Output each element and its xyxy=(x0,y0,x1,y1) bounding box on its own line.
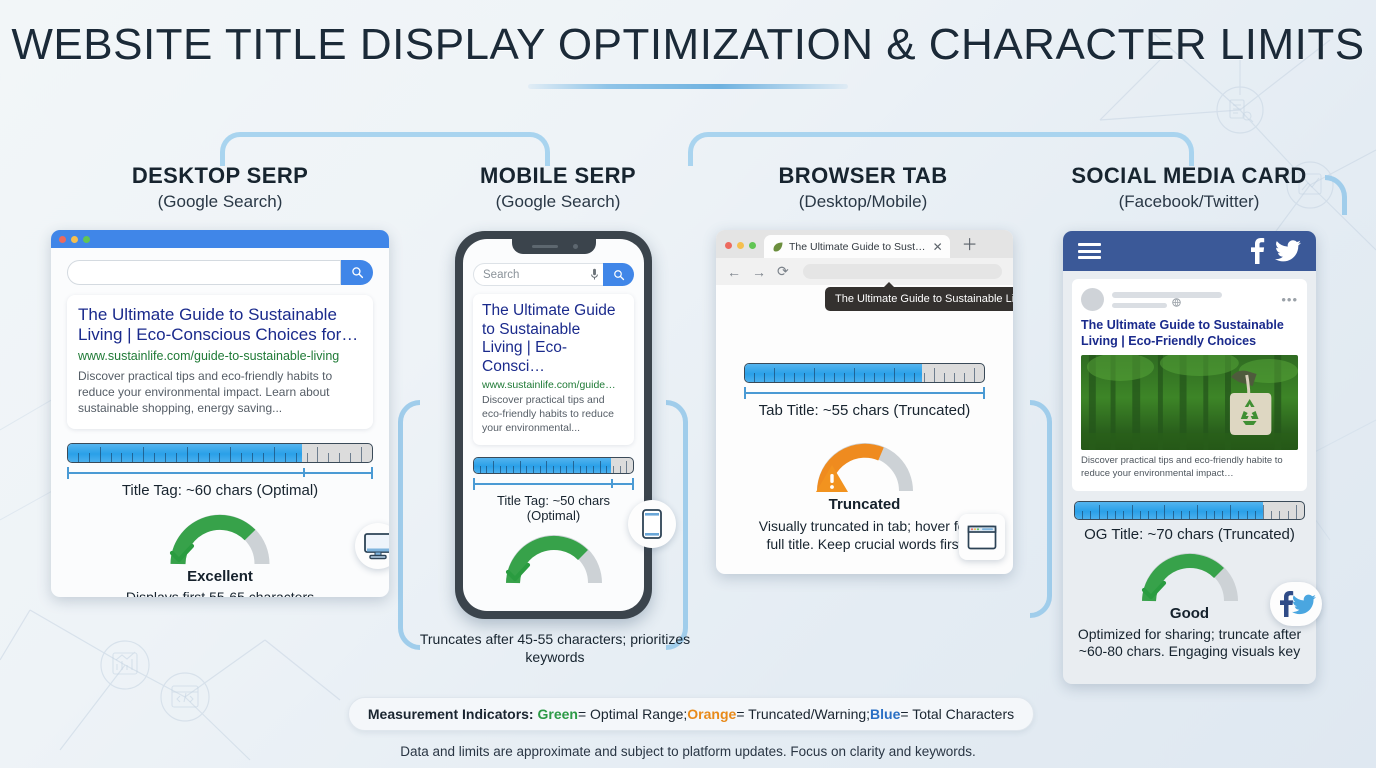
search-button[interactable] xyxy=(341,260,373,285)
ruler-ticks xyxy=(68,444,372,462)
legend-prefix: Measurement Indicators: xyxy=(368,706,534,722)
more-options-icon[interactable]: ••• xyxy=(1281,292,1298,307)
column-heading-desktop: DESKTOP SERP (Google Search) xyxy=(80,163,360,212)
browser-verdict-line1: Visually truncated in tab; hover for xyxy=(759,518,970,534)
desktop-measure-group: Title Tag: ~60 chars (Optimal) xyxy=(67,443,373,499)
result-description: Discover practical tips and eco-friendly… xyxy=(482,394,625,436)
measure-label: Title Tag: ~60 chars (Optimal) xyxy=(67,482,373,499)
header: WEBSITE TITLE DISPLAY OPTIMIZATION & CHA… xyxy=(0,20,1376,89)
window-maximize-dot[interactable] xyxy=(749,242,756,249)
social-verdict-line2: ~60-80 chars. Engaging visuals key xyxy=(1079,643,1300,659)
social-verdict-line1: Optimized for sharing; truncate after xyxy=(1078,626,1301,642)
browser-tab[interactable]: The Ultimate Guide to Sust… ✕ xyxy=(764,235,950,258)
legend-orange-desc: = Truncated/Warning; xyxy=(736,706,870,722)
og-title[interactable]: The Ultimate Guide to Sustainable Living… xyxy=(1081,318,1298,349)
measure-label: OG Title: ~70 chars (Truncated) xyxy=(1074,526,1305,543)
legend-bar: Measurement Indicators: Green = Optimal … xyxy=(348,697,1034,731)
measure-label: Title Tag: ~50 chars (Optimal) xyxy=(473,493,634,523)
avatar xyxy=(1081,288,1104,311)
column-heading-mobile: MOBILE SERP (Google Search) xyxy=(418,163,698,212)
caliper xyxy=(67,467,373,479)
mobile-serp-panel: Search The Ultimate Guide to Sustainable… xyxy=(455,231,652,619)
caliper xyxy=(473,478,634,490)
desktop-device-badge xyxy=(355,523,389,569)
ruler-ticks xyxy=(1075,502,1304,519)
window-minimize-dot[interactable] xyxy=(71,236,78,243)
character-ruler xyxy=(1074,501,1305,520)
window-close-dot[interactable] xyxy=(725,242,732,249)
check-icon xyxy=(504,561,604,583)
arrow-left-icon[interactable]: ← xyxy=(727,264,741,280)
facebook-icon[interactable] xyxy=(1248,238,1265,264)
check-icon xyxy=(168,542,272,564)
footnote: Data and limits are approximate and subj… xyxy=(0,744,1376,759)
leaf-icon xyxy=(772,241,784,253)
phone-notch xyxy=(512,239,596,254)
post-header: ••• xyxy=(1081,288,1298,311)
social-verdict-sub: Optimized for sharing; truncate after ~6… xyxy=(1063,626,1316,661)
window-close-dot[interactable] xyxy=(59,236,66,243)
social-post: ••• The Ultimate Guide to Sustainable Li… xyxy=(1072,279,1307,491)
desktop-search-bar[interactable] xyxy=(67,260,373,285)
measure-label: Tab Title: ~55 chars (Truncated) xyxy=(744,402,985,419)
browser-titlebar: The Ultimate Guide to Sust… ✕ ＋ xyxy=(716,230,1013,258)
browser-window-icon xyxy=(967,525,997,550)
desktop-gauge xyxy=(168,510,272,566)
character-ruler xyxy=(67,443,373,463)
social-gauge xyxy=(1140,551,1240,603)
column-subtitle: (Desktop/Mobile) xyxy=(723,192,1003,212)
mobile-search-result[interactable]: The Ultimate Guide to Sustainable Living… xyxy=(473,294,634,445)
character-ruler xyxy=(744,363,985,383)
window-minimize-dot[interactable] xyxy=(737,242,744,249)
character-ruler xyxy=(473,457,634,474)
result-description: Discover practical tips and eco-friendly… xyxy=(78,368,362,417)
desktop-verdict-sub: Displays first 55-65 characters xyxy=(51,589,389,597)
close-icon[interactable]: ✕ xyxy=(933,240,943,254)
desktop-serp-panel: The Ultimate Guide to Sustainable Living… xyxy=(51,230,389,597)
browser-verdict: Truncated xyxy=(716,496,1013,513)
legend-green-word: Green xyxy=(537,706,577,722)
search-input-placeholder: Search xyxy=(483,269,519,281)
reload-icon[interactable]: ⟳ xyxy=(777,263,789,280)
ruler-ticks xyxy=(474,458,633,473)
rail-browser-social xyxy=(1030,400,1052,618)
mobile-gauge xyxy=(504,533,604,585)
column-subtitle: (Google Search) xyxy=(80,192,360,212)
window-titlebar xyxy=(51,230,389,248)
twitter-icon xyxy=(1292,594,1316,615)
search-icon xyxy=(613,269,625,281)
column-heading-browser: BROWSER TAB (Desktop/Mobile) xyxy=(723,163,1003,212)
column-subtitle: (Facebook/Twitter) xyxy=(1049,192,1329,212)
caliper xyxy=(744,387,985,399)
legend-blue-desc: = Total Characters xyxy=(900,706,1014,722)
address-bar[interactable] xyxy=(803,264,1002,279)
column-title: SOCIAL MEDIA CARD xyxy=(1049,163,1329,189)
legend-blue-word: Blue xyxy=(870,706,900,722)
social-platform-badge xyxy=(1270,582,1322,626)
bracket-left-pair xyxy=(220,132,550,166)
column-title: DESKTOP SERP xyxy=(80,163,360,189)
result-title[interactable]: The Ultimate Guide to Sustainable Living… xyxy=(482,302,625,376)
column-subtitle: (Google Search) xyxy=(418,192,698,212)
mobile-measure-group: Title Tag: ~50 chars (Optimal) xyxy=(473,457,634,523)
browser-navbar: ← → ⟳ xyxy=(716,258,1013,285)
bracket-right-pair xyxy=(688,132,1194,166)
social-appbar xyxy=(1063,231,1316,271)
page-title: WEBSITE TITLE DISPLAY OPTIMIZATION & CHA… xyxy=(0,20,1376,70)
result-url: www.sustainlife.com/guide-to-sustainable… xyxy=(78,349,362,364)
search-button[interactable] xyxy=(603,263,634,286)
hamburger-menu-icon[interactable] xyxy=(1078,240,1101,263)
plus-icon[interactable]: ＋ xyxy=(962,231,978,258)
search-icon xyxy=(351,266,364,279)
browser-gauge xyxy=(815,439,915,493)
check-icon xyxy=(1140,579,1240,601)
browser-verdict-line2: full title. Keep crucial words first xyxy=(766,536,962,552)
mobile-search-bar[interactable]: Search xyxy=(473,263,634,286)
desktop-monitor-icon xyxy=(363,532,389,560)
browser-tab-panel: The Ultimate Guide to Sust… ✕ ＋ ← → ⟳ Th… xyxy=(716,230,1013,574)
arrow-right-icon[interactable]: → xyxy=(752,264,766,280)
mobile-device-badge xyxy=(628,500,676,548)
post-meta-placeholder xyxy=(1112,292,1273,308)
column-title: BROWSER TAB xyxy=(723,163,1003,189)
search-input[interactable]: Search xyxy=(473,263,603,286)
legend-orange-word: Orange xyxy=(687,706,736,722)
social-measure-group: OG Title: ~70 chars (Truncated) xyxy=(1074,501,1305,543)
og-image xyxy=(1081,355,1298,450)
desktop-search-result[interactable]: The Ultimate Guide to Sustainable Living… xyxy=(67,295,373,429)
tab-tooltip-text: The Ultimate Guide to Sustainable Living xyxy=(835,293,1013,305)
title-underline xyxy=(528,84,848,89)
mobile-phone-icon xyxy=(642,509,662,539)
column-heading-social: SOCIAL MEDIA CARD (Facebook/Twitter) xyxy=(1049,163,1329,212)
browser-device-badge xyxy=(959,514,1005,560)
microphone-icon[interactable] xyxy=(590,268,599,281)
mobile-caption: Truncates after 45-55 characters; priori… xyxy=(415,631,695,666)
result-title[interactable]: The Ultimate Guide to Sustainable Living… xyxy=(78,305,362,345)
window-maximize-dot[interactable] xyxy=(83,236,90,243)
browser-measure-group: Tab Title: ~55 chars (Truncated) xyxy=(744,363,985,419)
rail-desktop-mobile xyxy=(398,400,420,650)
search-input[interactable] xyxy=(67,260,341,285)
og-description: Discover practical tips and eco-friendly… xyxy=(1081,455,1298,481)
twitter-icon[interactable] xyxy=(1275,240,1301,262)
column-title: MOBILE SERP xyxy=(418,163,698,189)
window-controls xyxy=(725,242,756,258)
ruler-ticks xyxy=(745,364,984,382)
tab-tooltip: The Ultimate Guide to Sustainable Living xyxy=(825,287,1013,311)
mobile-caption-text: Truncates after 45-55 characters; priori… xyxy=(420,631,690,665)
globe-icon xyxy=(1172,298,1181,307)
phone-screen: Search The Ultimate Guide to Sustainable… xyxy=(463,239,644,611)
desktop-verdict: Excellent xyxy=(51,568,389,585)
result-url: www.sustainlife.com/guide… xyxy=(482,379,625,391)
browser-tab-label: The Ultimate Guide to Sust… xyxy=(789,241,926,253)
warning-triangle-icon xyxy=(815,463,915,493)
legend-green-desc: = Optimal Range; xyxy=(578,706,687,722)
